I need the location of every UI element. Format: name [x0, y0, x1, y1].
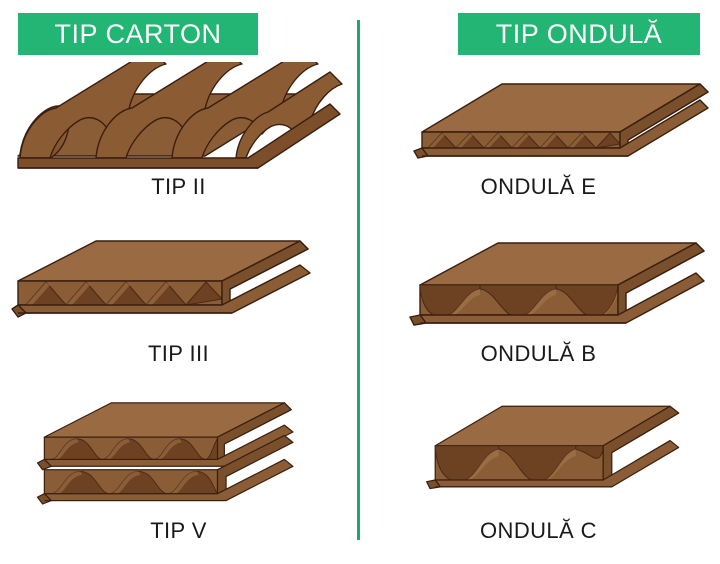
item-ondula-c: ONDULĂ C	[360, 396, 717, 563]
figure-single-wall-corrugated	[0, 229, 357, 349]
caption-tip-iii: TIP III	[0, 341, 357, 367]
caption-tip-ii: TIP II	[0, 174, 357, 200]
figure-double-wall-corrugated	[0, 396, 357, 516]
item-tip-v: TIP V	[0, 396, 357, 563]
header-banner-tip-carton: TIP CARTON	[18, 13, 258, 55]
item-tip-ii: TIP II	[0, 62, 357, 229]
caption-ondula-c: ONDULĂ C	[360, 518, 717, 544]
caption-tip-v: TIP V	[0, 518, 357, 544]
cardboard-types-infographic: TIP CARTON TIP ONDULĂ	[0, 0, 720, 564]
column-tip-ondula: ONDULĂ E	[360, 62, 717, 564]
item-ondula-e: ONDULĂ E	[360, 62, 717, 229]
figure-single-face-corrugated	[0, 62, 357, 182]
figure-coarse-flute-board	[360, 396, 717, 516]
caption-ondula-e: ONDULĂ E	[360, 174, 717, 200]
item-tip-iii: TIP III	[0, 229, 357, 396]
caption-ondula-b: ONDULĂ B	[360, 341, 717, 367]
header-banner-tip-ondula: TIP ONDULĂ	[458, 13, 700, 55]
column-tip-carton: TIP II	[0, 62, 357, 564]
figure-fine-flute-board	[360, 62, 717, 182]
figure-medium-flute-board	[360, 229, 717, 349]
item-ondula-b: ONDULĂ B	[360, 229, 717, 396]
